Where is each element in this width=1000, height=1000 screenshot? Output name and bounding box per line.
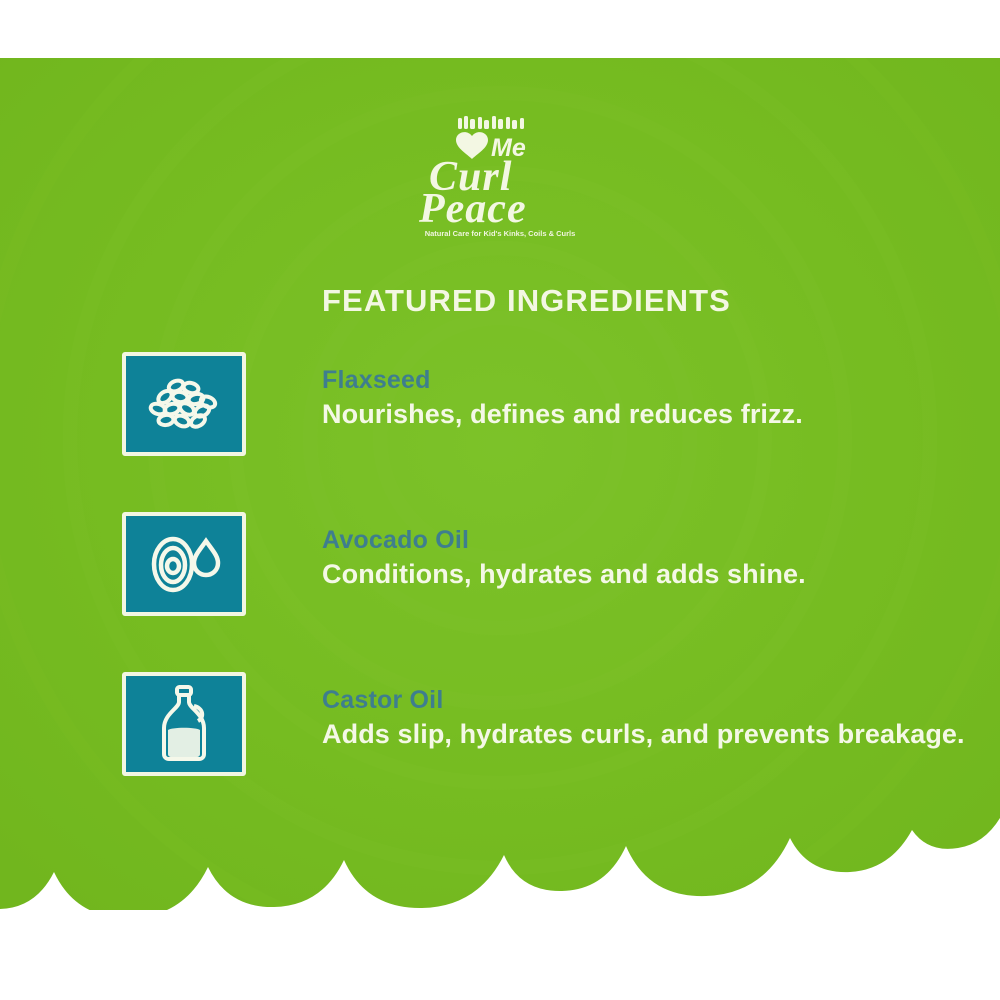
- ingredient-name: Castor Oil: [322, 686, 965, 715]
- ingredient-icon-tile: [122, 352, 246, 456]
- avocado-oil-icon: [146, 531, 222, 597]
- ingredient-description: Nourishes, defines and reduces frizz.: [322, 397, 803, 432]
- logo-tagline-text: Natural Care for Kid's Kinks, Coils & Cu…: [425, 229, 576, 238]
- ingredient-description: Adds slip, hydrates curls, and prevents …: [322, 717, 965, 752]
- ingredient-row-flaxseed: Flaxseed Nourishes, defines and reduces …: [122, 352, 803, 456]
- ingredient-row-avocado-oil: Avocado Oil Conditions, hydrates and add…: [122, 512, 806, 616]
- ingredient-icon-tile: [122, 672, 246, 776]
- ingredient-description: Conditions, hydrates and adds shine.: [322, 557, 806, 592]
- ingredient-icon-tile: [122, 512, 246, 616]
- ingredient-text-block: Castor Oil Adds slip, hydrates curls, an…: [322, 672, 965, 751]
- product-feature-panel: Me Curl Peace Natural Care for Kid's Kin…: [0, 0, 1000, 1000]
- ingredient-name: Flaxseed: [322, 366, 803, 395]
- page-title: FEATURED INGREDIENTS: [322, 283, 731, 319]
- logo-peace-text: Peace: [418, 186, 527, 232]
- ingredient-text-block: Flaxseed Nourishes, defines and reduces …: [322, 352, 803, 431]
- ingredient-text-block: Avocado Oil Conditions, hydrates and add…: [322, 512, 806, 591]
- logo-pretitle-mark: [458, 116, 524, 129]
- ingredient-name: Avocado Oil: [322, 526, 806, 555]
- flaxseed-icon: [146, 375, 222, 433]
- ingredient-row-castor-oil: Castor Oil Adds slip, hydrates curls, an…: [122, 672, 965, 776]
- castor-oil-bottle-icon: [154, 684, 214, 764]
- brand-logo: Me Curl Peace Natural Care for Kid's Kin…: [0, 112, 1000, 240]
